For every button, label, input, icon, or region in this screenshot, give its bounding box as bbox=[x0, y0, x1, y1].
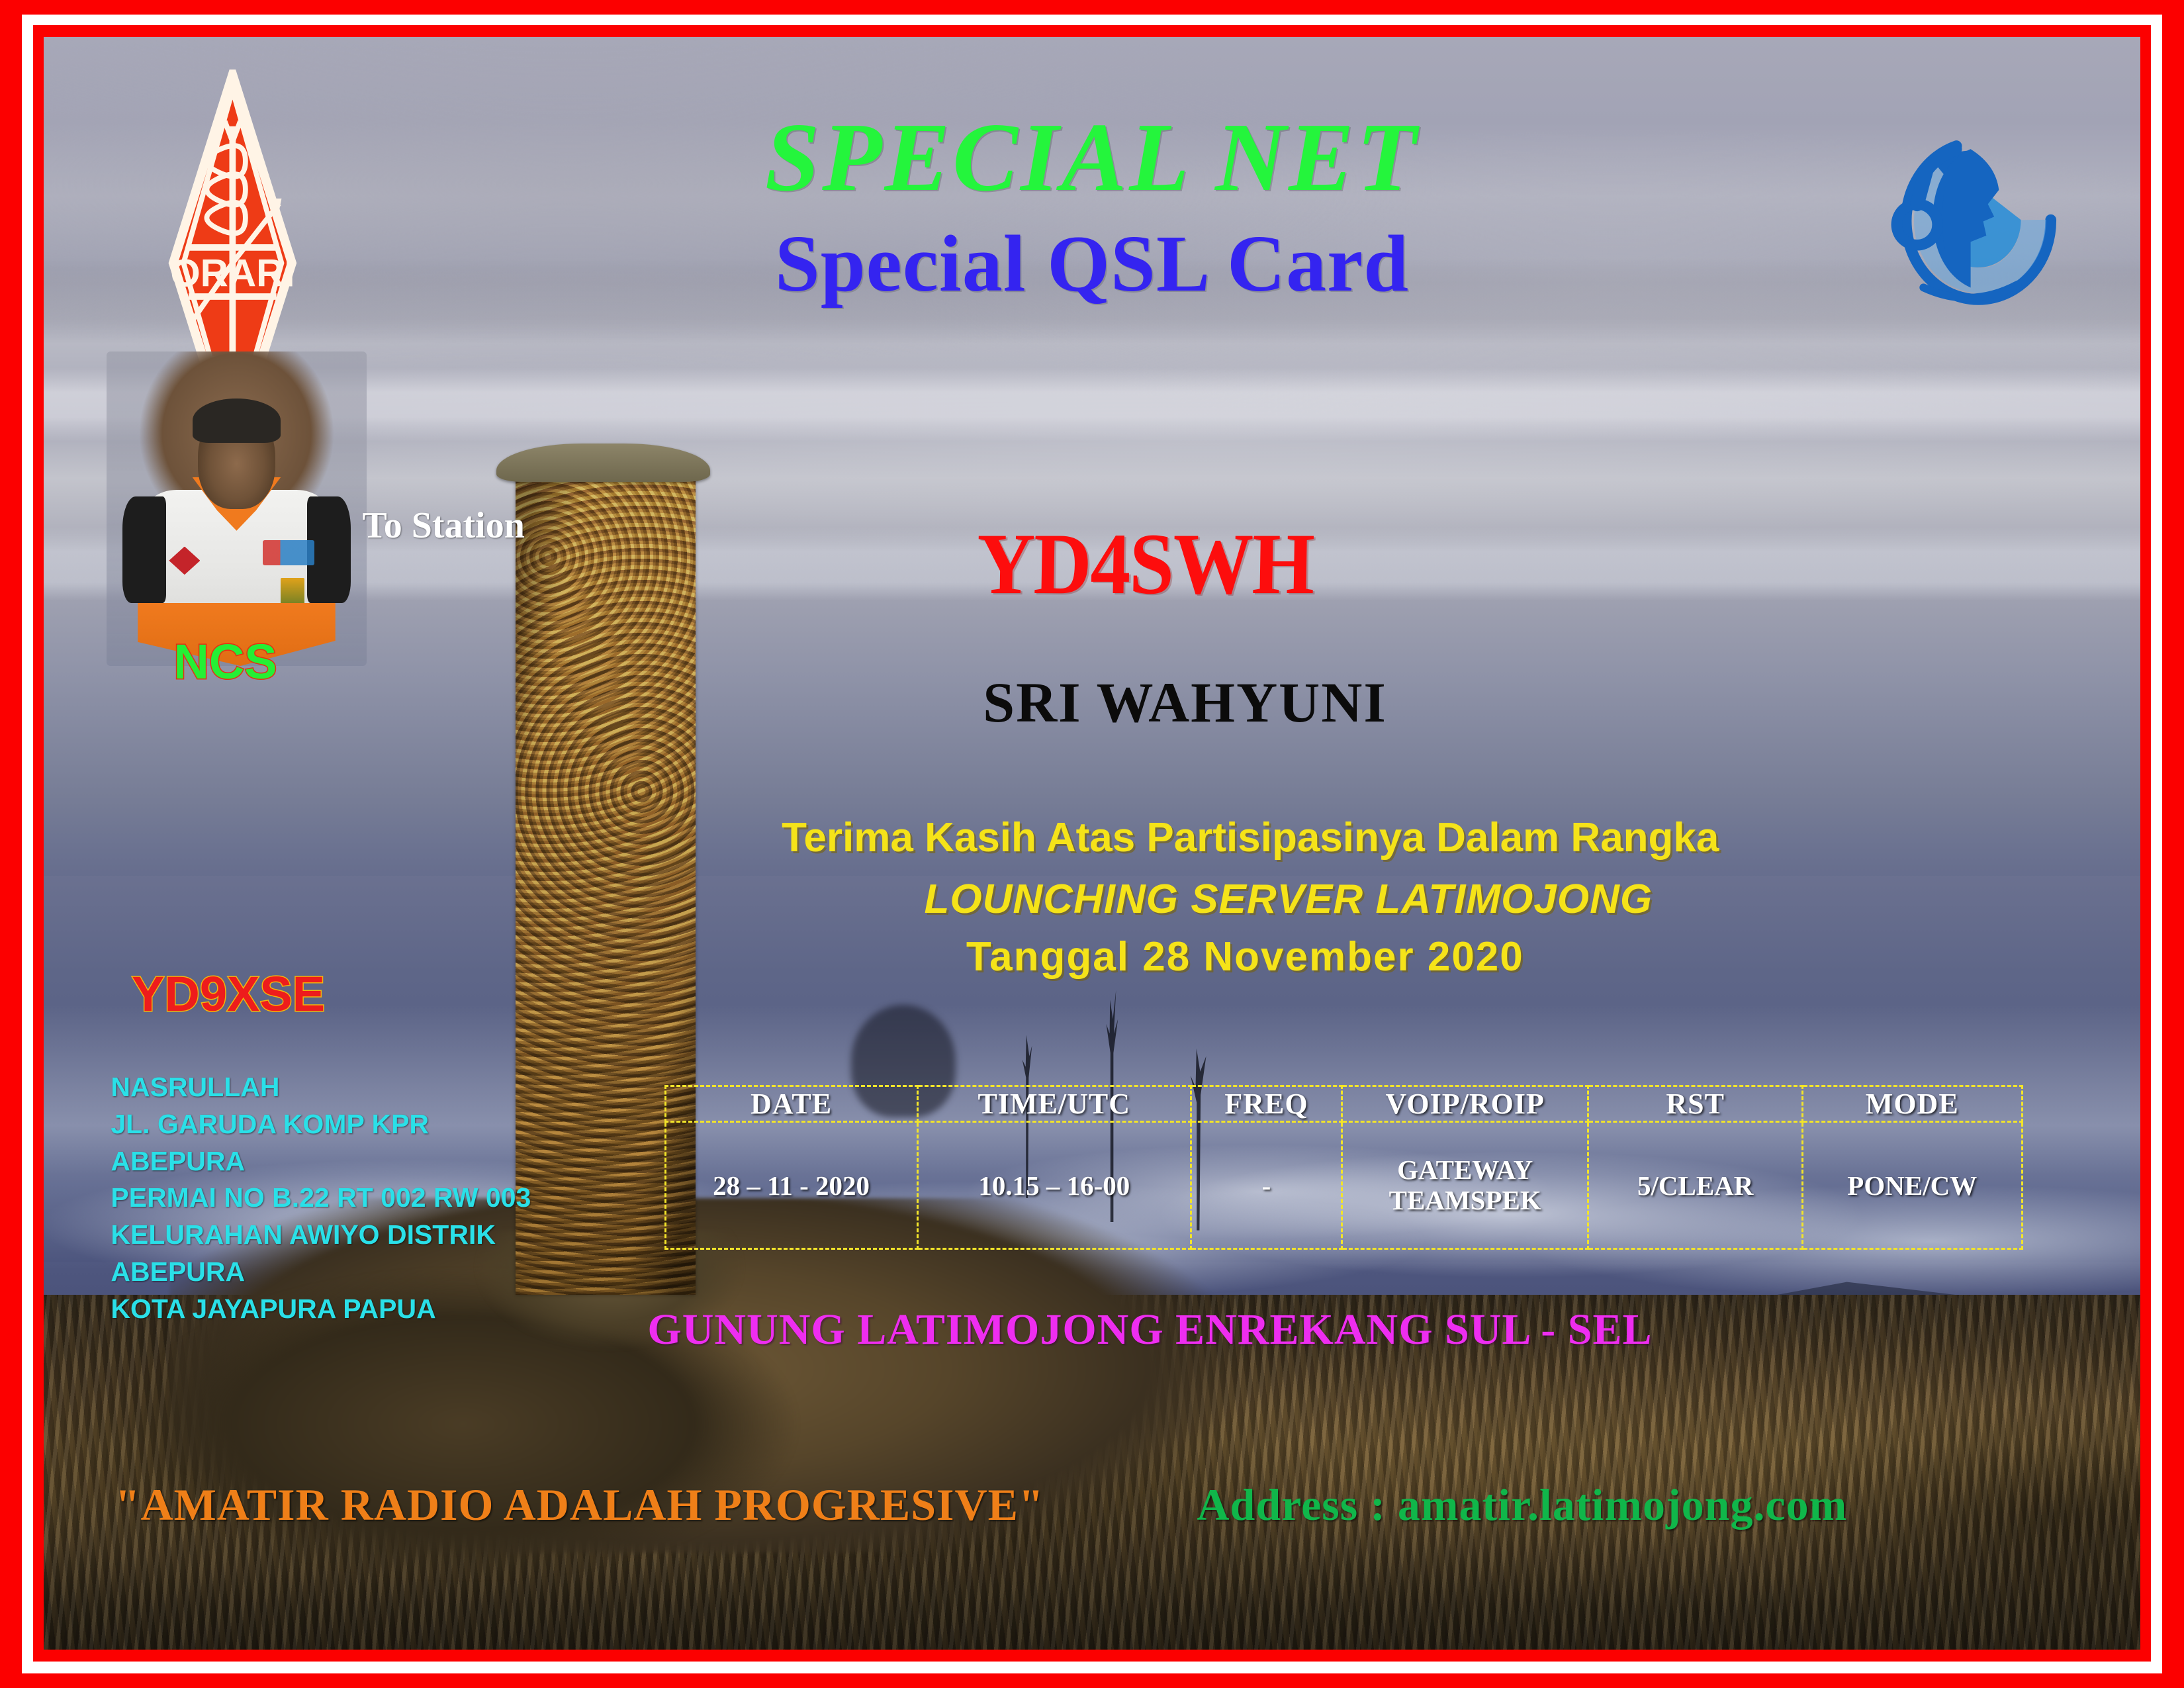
address-line: KELURAHAN AWIYO DISTRIK bbox=[111, 1217, 531, 1254]
column-header-voip-roip: VOIP/ROIP bbox=[1342, 1086, 1588, 1122]
page-title: SPECIAL NET bbox=[765, 101, 1419, 214]
cell-mode: PONE/CW bbox=[1802, 1122, 2022, 1248]
address-line: PERMAI NO B.22 RT 002 RW 003 bbox=[111, 1180, 531, 1217]
station-callsign: YD4SWH bbox=[976, 513, 1314, 614]
table-row: 28 – 11 - 2020 10.15 – 16-00 - GATEWAY T… bbox=[665, 1122, 2022, 1248]
monument-cap bbox=[496, 444, 710, 482]
column-header-freq: FREQ bbox=[1191, 1086, 1342, 1122]
column-header-time: TIME/UTC bbox=[917, 1086, 1191, 1122]
slogan-text: "AMATIR RADIO ADALAH PROGRESIVE" bbox=[115, 1479, 1044, 1531]
ncs-operator-photo bbox=[107, 352, 367, 666]
qso-log-table: DATE TIME/UTC FREQ VOIP/ROIP RST MODE 28… bbox=[664, 1085, 2023, 1249]
operator-name: SRI WAHYUNI bbox=[983, 669, 1387, 735]
web-address-text: Address : amatir.latimojong.com bbox=[1197, 1479, 1847, 1531]
ncs-role-label: NCS bbox=[173, 633, 277, 690]
address-line: NASRULLAH bbox=[111, 1069, 531, 1106]
cell-freq: - bbox=[1191, 1122, 1342, 1248]
ncs-callsign: YD9XSE bbox=[132, 966, 325, 1022]
cell-voip-line1: GATEWAY bbox=[1343, 1155, 1588, 1186]
location-line: GUNUNG LATIMOJONG ENREKANG SUL - SEL bbox=[647, 1305, 1652, 1355]
cell-voip-roip: GATEWAY TEAMSPEK bbox=[1342, 1122, 1588, 1248]
qsl-card: ORARI bbox=[0, 0, 2184, 1688]
address-line: ABEPURA bbox=[111, 1143, 531, 1180]
to-station-label: To Station bbox=[363, 504, 525, 547]
event-line: LOUNCHING SERVER LATIMOJONG bbox=[925, 876, 1653, 923]
photo-shoulder-left bbox=[122, 496, 167, 604]
column-header-date: DATE bbox=[665, 1086, 917, 1122]
cell-rst: 5/CLEAR bbox=[1588, 1122, 1802, 1248]
address-line: JL. GARUDA KOMP KPR bbox=[111, 1106, 531, 1143]
event-date-line: Tanggal 28 November 2020 bbox=[966, 933, 1524, 980]
photo-chest-logo bbox=[263, 540, 315, 565]
column-header-rst: RST bbox=[1588, 1086, 1802, 1122]
cell-voip-line2: TEAMSPEK bbox=[1343, 1186, 1588, 1216]
table-header-row: DATE TIME/UTC FREQ VOIP/ROIP RST MODE bbox=[665, 1086, 2022, 1122]
cell-date: 28 – 11 - 2020 bbox=[665, 1122, 917, 1248]
column-header-mode: MODE bbox=[1802, 1086, 2022, 1122]
headset-profile-logo bbox=[1889, 79, 2077, 361]
address-line: KOTA JAYAPURA PAPUA bbox=[111, 1291, 531, 1328]
mailing-address-block: NASRULLAH JL. GARUDA KOMP KPR ABEPURA PE… bbox=[111, 1069, 531, 1327]
page-subtitle: Special QSL Card bbox=[775, 218, 1409, 310]
cell-time: 10.15 – 16-00 bbox=[917, 1122, 1191, 1248]
thanks-line: Terima Kasih Atas Partisipasinya Dalam R… bbox=[782, 814, 1719, 861]
address-line: ABEPURA bbox=[111, 1254, 531, 1291]
photo-hair bbox=[193, 399, 281, 443]
orari-logo-text: ORARI bbox=[170, 252, 295, 295]
background-photograph: ORARI bbox=[44, 37, 2140, 1650]
